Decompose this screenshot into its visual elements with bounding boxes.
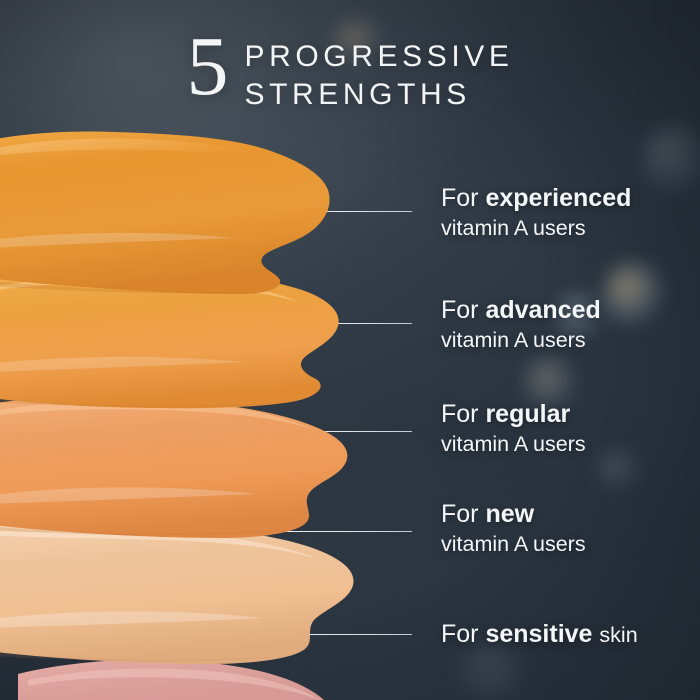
description-line-2: vitamin A users <box>441 431 586 458</box>
description-emphasis: sensitive <box>485 620 592 648</box>
swatch-strength-20 <box>0 128 358 296</box>
description-3: For new vitamin A users <box>441 500 586 557</box>
description-emphasis: new <box>485 500 534 528</box>
title-number: 5 <box>187 28 229 105</box>
description-tail: skin <box>599 623 637 647</box>
infographic-canvas: 5 PROGRESSIVE STRENGTHS <box>0 0 700 700</box>
swatch-stack <box>0 128 360 700</box>
description-6: For regular vitamin A users <box>441 400 586 457</box>
description-line-2: vitamin A users <box>441 327 601 354</box>
description-line-1: For regular <box>441 400 586 430</box>
description-20: For experienced vitamin A users <box>441 184 631 241</box>
description-prefix: For <box>441 500 479 528</box>
description-prefix: For <box>441 296 479 324</box>
description-line-2: vitamin A users <box>441 531 586 558</box>
description-emphasis: advanced <box>485 296 600 324</box>
description-10: For advanced vitamin A users <box>441 296 601 353</box>
description-line-1: For experienced <box>441 184 631 214</box>
title-text-block: PROGRESSIVE STRENGTHS <box>245 24 514 115</box>
description-line-1: For advanced <box>441 296 601 326</box>
title-line-2: STRENGTHS <box>245 76 514 114</box>
description-emphasis: regular <box>485 400 570 428</box>
description-line-2: vitamin A users <box>441 215 631 242</box>
page-title: 5 PROGRESSIVE STRENGTHS <box>0 24 700 115</box>
description-1: For sensitive skin <box>441 620 638 650</box>
description-line-1: For new <box>441 500 586 530</box>
description-prefix: For <box>441 400 479 428</box>
description-prefix: For <box>441 184 479 212</box>
description-prefix: For <box>441 620 479 648</box>
title-line-1: PROGRESSIVE <box>245 38 514 76</box>
description-emphasis: experienced <box>485 184 631 212</box>
description-line-1: For sensitive skin <box>441 620 638 650</box>
